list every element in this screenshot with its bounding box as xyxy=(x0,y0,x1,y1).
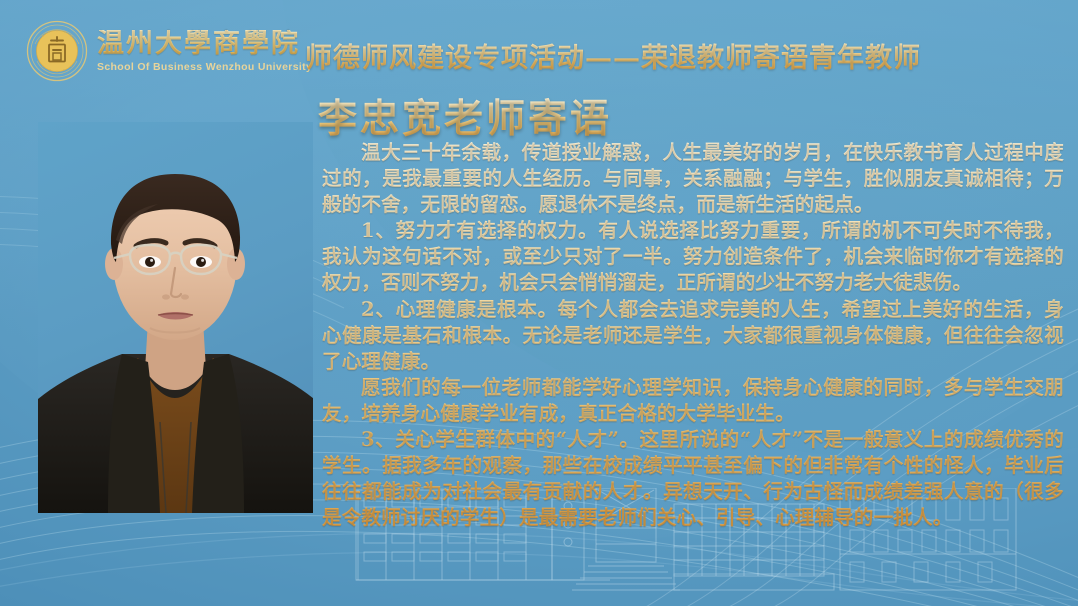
portrait-illustration xyxy=(38,122,313,513)
school-name-en: School Of Business Wenzhou University xyxy=(97,62,312,73)
message-paragraph: 愿我们的每一位老师都能学好心理学知识，保持身心健康的同时，多与学生交朋友，培养身… xyxy=(322,375,1064,427)
presentation-slide: 温州大學商學院 School Of Business Wenzhou Unive… xyxy=(0,0,1078,606)
school-seal-icon xyxy=(26,20,88,82)
teacher-portrait-photo xyxy=(38,122,313,513)
school-name-cn: 温州大學商學院 xyxy=(97,30,312,57)
message-paragraph: 1、努力才有选择的权力。有人说选择比努力重要，所谓的机不可失时不待我，我认为这句… xyxy=(322,218,1064,296)
message-paragraph: 2、心理健康是根本。每个人都会去追求完美的人生，希望过上美好的生活，身心健康是基… xyxy=(322,297,1064,375)
message-paragraph: 3、关心学生群体中的“人才”。这里所说的“人才”不是一般意义上的成绩优秀的学生。… xyxy=(322,427,1064,531)
event-title: 师德师风建设专项活动——荣退教师寄语青年教师 xyxy=(305,36,921,75)
message-body: 温大三十年余载，传道授业解惑，人生最美好的岁月，在快乐教书育人过程中度过的，是我… xyxy=(322,140,1064,531)
school-name-block: 温州大學商學院 School Of Business Wenzhou Unive… xyxy=(97,30,312,73)
message-paragraph: 温大三十年余载，传道授业解惑，人生最美好的岁月，在快乐教书育人过程中度过的，是我… xyxy=(322,140,1064,218)
school-logo: 温州大學商學院 School Of Business Wenzhou Unive… xyxy=(26,20,312,82)
page-title: 李忠宽老师寄语 xyxy=(318,88,612,144)
